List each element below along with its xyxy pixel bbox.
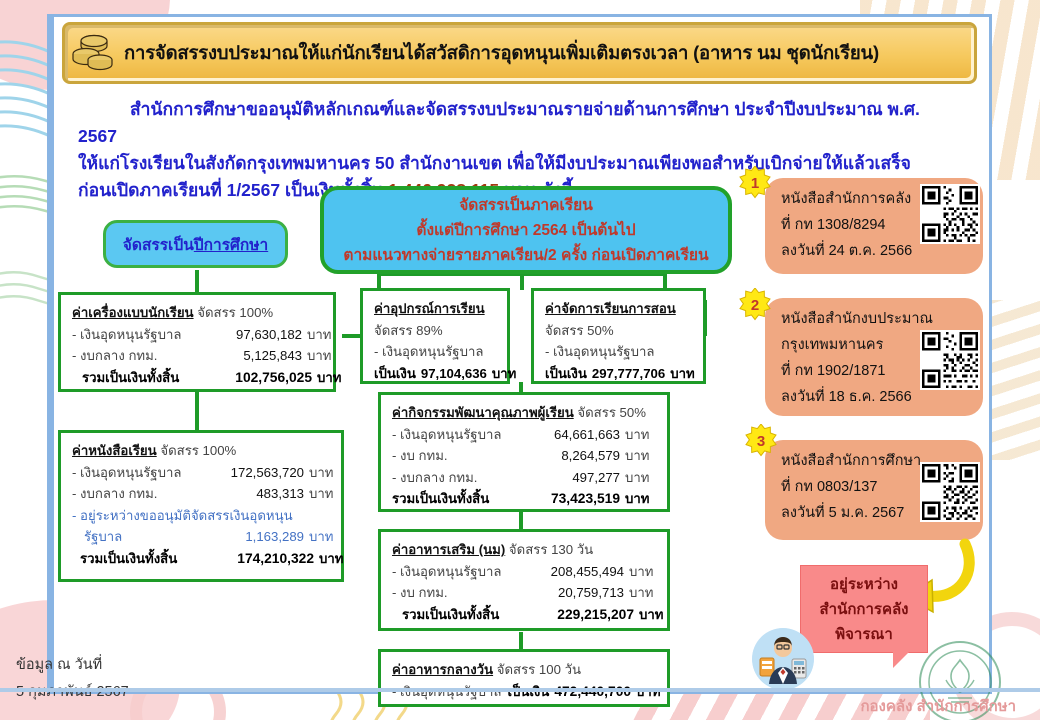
connector-to-milk bbox=[519, 512, 523, 530]
qr-code-icon bbox=[922, 186, 978, 242]
box-uniform-title: ค่าเครื่องแบบนักเรียน bbox=[72, 305, 194, 320]
total-unit: บาท bbox=[312, 367, 341, 389]
total-value: 174,210,322 bbox=[204, 548, 314, 570]
data-as-of-note: ข้อมูล ณ วันที่ 5 กุมภาพันธ์ 2567 bbox=[16, 652, 196, 706]
card-left-accent bbox=[47, 14, 54, 694]
callout-line-3: พิจารณา bbox=[811, 622, 917, 647]
box-milk-header: ค่าอาหารเสริม (นม) จัดสรร 130 วัน bbox=[392, 539, 658, 561]
total-value: 102,756,025 bbox=[206, 367, 312, 389]
row-unit: บาท bbox=[620, 424, 649, 446]
row-label: - เงินอุดหนุนรัฐบาล bbox=[72, 324, 206, 346]
total-value: 297,777,706 bbox=[592, 363, 665, 385]
box-uniform: ค่าเครื่องแบบนักเรียน จัดสรร 100% - เงิน… bbox=[58, 292, 336, 392]
box-activity-row: - งบกลาง กทม. 497,277 บาท bbox=[392, 467, 658, 489]
total-label: เป็นเงิน bbox=[374, 363, 421, 385]
row-label: - เงินอุดหนุนรัฐบาล bbox=[392, 561, 522, 583]
box-milk-row: - งบ กทม. 20,759,713 บาท bbox=[392, 582, 658, 604]
box-books-alloc: จัดสรร 100% bbox=[160, 443, 236, 458]
total-unit: บาท bbox=[634, 604, 663, 626]
box-uniform-alloc: จัดสรร 100% bbox=[197, 305, 273, 320]
term-allocation-box: จัดสรรเป็นภาคเรียน ตั้งแต่ปีการศึกษา 256… bbox=[320, 186, 732, 274]
row-value: 97,630,182 bbox=[206, 324, 302, 346]
box-uniform-row: - เงินอุดหนุนรัฐบาล 97,630,182 บาท bbox=[72, 324, 324, 346]
term-line-1: จัดสรรเป็นภาคเรียน bbox=[459, 193, 593, 218]
connector-supplies-left bbox=[342, 334, 362, 338]
total-unit: บาท bbox=[665, 363, 694, 385]
box-activity-title: ค่ากิจกรรมพัฒนาคุณภาพผู้เรียน bbox=[392, 405, 574, 420]
row-label: - งบกลาง กทม. bbox=[72, 345, 206, 367]
row-value: 483,313 bbox=[200, 483, 304, 505]
total-unit: บาท bbox=[314, 548, 343, 570]
term-line-2: ตั้งแต่ปีการศึกษา 2564 เป็นต้นไป bbox=[416, 218, 635, 243]
box-teaching-alloc: จัดสรร 50% bbox=[545, 320, 694, 342]
row-value: 64,661,663 bbox=[522, 424, 620, 446]
box-books-row: - เงินอุดหนุนรัฐบาล 172,563,720 บาท bbox=[72, 462, 332, 484]
banner-title: การจัดสรรงบประมาณให้แก่นักเรียนได้สวัสดิ… bbox=[124, 39, 879, 68]
row-value: 20,759,713 bbox=[522, 582, 624, 604]
pending-callout: อยู่ระหว่าง สำนักการคลัง พิจารณา bbox=[800, 565, 928, 653]
total-value: 229,215,207 bbox=[530, 604, 634, 626]
box-uniform-header: ค่าเครื่องแบบนักเรียน จัดสรร 100% bbox=[72, 302, 324, 324]
box-milk-title: ค่าอาหารเสริม (นม) bbox=[392, 542, 505, 557]
row-value: 8,264,579 bbox=[522, 445, 620, 467]
year-allocation-prefix: จัดสรรเป็น bbox=[123, 232, 194, 257]
box-books-row: - งบกลาง กทม. 483,313 บาท bbox=[72, 483, 332, 505]
row-label: - งบกลาง กทม. bbox=[72, 483, 200, 505]
title-banner-content: การจัดสรรงบประมาณให้แก่นักเรียนได้สวัสดิ… bbox=[70, 26, 970, 80]
box-supplies: ค่าอุปกรณ์การเรียน จัดสรร 89% - เงินอุดห… bbox=[360, 288, 510, 384]
box-books-total: รวมเป็นเงินทั้งสิ้น 174,210,322 บาท bbox=[72, 548, 332, 570]
box-uniform-row: - งบกลาง กทม. 5,125,843 บาท bbox=[72, 345, 324, 367]
accountant-avatar bbox=[752, 628, 814, 690]
data-as-of-line-2: 5 กุมภาพันธ์ 2567 bbox=[16, 679, 196, 706]
row-unit: บาท bbox=[624, 582, 653, 604]
row-label: - งบ กทม. bbox=[392, 445, 522, 467]
box-lunch: ค่าอาหารกลางวัน จัดสรร 100 วัน - เงินอุด… bbox=[378, 649, 670, 707]
badge-3: 3 bbox=[744, 424, 778, 458]
connector-to-activity bbox=[519, 382, 523, 392]
callout-line-2: สำนักการคลัง bbox=[811, 597, 917, 622]
box-lunch-header: ค่าอาหารกลางวัน จัดสรร 100 วัน bbox=[392, 659, 658, 681]
badge-1-number: 1 bbox=[751, 175, 759, 192]
row-value: 208,455,494 bbox=[522, 561, 624, 583]
row-value: 1,163,289 bbox=[200, 526, 304, 548]
qr-code-icon bbox=[922, 332, 978, 388]
box-activity-alloc: จัดสรร 50% bbox=[577, 405, 646, 420]
row-unit: บาท bbox=[302, 345, 331, 367]
bottom-divider bbox=[0, 688, 1040, 692]
box-supplies-source: - เงินอุดหนุนรัฐบาล bbox=[374, 341, 498, 363]
total-label: เป็นเงิน bbox=[545, 363, 592, 385]
row-unit: บาท bbox=[620, 467, 649, 489]
intro-line-1: สำนักการศึกษาขออนุมัติหลักเกณฑ์และจัดสรร… bbox=[78, 96, 958, 150]
total-unit: บาท bbox=[620, 488, 649, 510]
qr-code-1[interactable] bbox=[920, 184, 980, 244]
connector-year-to-uniform bbox=[195, 270, 199, 292]
box-teaching-source: - เงินอุดหนุนรัฐบาล bbox=[545, 341, 694, 363]
badge-3-number: 3 bbox=[757, 433, 765, 450]
total-label: รวมเป็นเงินทั้งสิ้น bbox=[80, 548, 204, 570]
box-books-header: ค่าหนังสือเรียน จัดสรร 100% bbox=[72, 440, 332, 462]
box-books: ค่าหนังสือเรียน จัดสรร 100% - เงินอุดหนุ… bbox=[58, 430, 344, 582]
total-label: รวมเป็นเงินทั้งสิ้น bbox=[82, 367, 206, 389]
box-activity: ค่ากิจกรรมพัฒนาคุณภาพผู้เรียน จัดสรร 50%… bbox=[378, 392, 670, 512]
year-allocation-underlined: ปีการศึกษา bbox=[194, 232, 268, 257]
badge-2: 2 bbox=[738, 288, 772, 322]
year-allocation-box: จัดสรรเป็นปีการศึกษา bbox=[103, 220, 288, 268]
term-line-3: ตามแนวทางจ่ายรายภาคเรียน/2 ครั้ง ก่อนเปิ… bbox=[343, 243, 708, 268]
box-activity-row: - เงินอุดหนุนรัฐบาล 64,661,663 บาท bbox=[392, 424, 658, 446]
box-teaching-total: เป็นเงิน 297,777,706 บาท bbox=[545, 363, 694, 385]
box-teaching-title: ค่าจัดการเรียนการสอน bbox=[545, 298, 694, 320]
connector-uniform-to-books bbox=[195, 392, 199, 430]
row-unit: บาท bbox=[304, 526, 333, 548]
connector-term-down bbox=[520, 274, 524, 290]
box-supplies-alloc: จัดสรร 89% bbox=[374, 320, 498, 342]
row-unit: บาท bbox=[304, 462, 333, 484]
box-activity-header: ค่ากิจกรรมพัฒนาคุณภาพผู้เรียน จัดสรร 50% bbox=[392, 402, 658, 424]
box-milk: ค่าอาหารเสริม (นม) จัดสรร 130 วัน - เงิน… bbox=[378, 529, 670, 631]
person-calculator-icon bbox=[752, 628, 814, 690]
row-label: - งบกลาง กทม. bbox=[392, 467, 522, 489]
row-unit: บาท bbox=[624, 561, 653, 583]
row-unit: บาท bbox=[302, 324, 331, 346]
box-milk-alloc: จัดสรร 130 วัน bbox=[509, 542, 593, 557]
reference-2-line-1: หนังสือสำนักงบประมาณ bbox=[781, 306, 973, 332]
total-label: รวมเป็นเงินทั้งสิ้น bbox=[402, 604, 530, 626]
coins-icon bbox=[70, 32, 116, 74]
total-unit: บาท bbox=[487, 363, 516, 385]
connector-to-lunch bbox=[519, 632, 523, 650]
row-unit: บาท bbox=[304, 483, 333, 505]
box-books-title: ค่าหนังสือเรียน bbox=[72, 443, 157, 458]
row-label: รัฐบาล bbox=[84, 526, 200, 548]
badge-1: 1 bbox=[738, 166, 772, 200]
callout-line-1: อยู่ระหว่าง bbox=[811, 572, 917, 597]
row-unit: บาท bbox=[620, 445, 649, 467]
box-supplies-total: เป็นเงิน 97,104,636 บาท bbox=[374, 363, 498, 385]
box-milk-row: - เงินอุดหนุนรัฐบาล 208,455,494 บาท bbox=[392, 561, 658, 583]
footer-department: กองคลัง สำนักการศึกษา bbox=[860, 694, 1016, 718]
box-books-pending-line: - อยู่ระหว่างขออนุมัติจัดสรรเงินอุดหนุน bbox=[72, 505, 332, 527]
total-value: 97,104,636 bbox=[421, 363, 487, 385]
box-uniform-total: รวมเป็นเงินทั้งสิ้น 102,756,025 บาท bbox=[72, 367, 324, 389]
data-as-of-line-1: ข้อมูล ณ วันที่ bbox=[16, 652, 196, 679]
box-supplies-title: ค่าอุปกรณ์การเรียน bbox=[374, 298, 498, 320]
infographic-page: การจัดสรรงบประมาณให้แก่นักเรียนได้สวัสดิ… bbox=[0, 0, 1040, 720]
row-value: 497,277 bbox=[522, 467, 620, 489]
badge-2-number: 2 bbox=[751, 297, 759, 314]
qr-code-icon bbox=[922, 464, 978, 520]
intro-line-2: ให้แก่โรงเรียนในสังกัดกรุงเทพมหานคร 50 ส… bbox=[78, 150, 958, 177]
box-teaching: ค่าจัดการเรียนการสอน จัดสรร 50% - เงินอุ… bbox=[531, 288, 706, 384]
box-books-pending-row: รัฐบาล 1,163,289 บาท bbox=[72, 526, 332, 548]
box-activity-row: - งบ กทม. 8,264,579 บาท bbox=[392, 445, 658, 467]
total-value: 73,423,519 bbox=[522, 488, 620, 510]
row-label: - เงินอุดหนุนรัฐบาล bbox=[392, 424, 522, 446]
qr-code-2[interactable] bbox=[920, 330, 980, 390]
qr-code-3[interactable] bbox=[920, 462, 980, 522]
box-milk-total: รวมเป็นเงินทั้งสิ้น 229,215,207 บาท bbox=[392, 604, 658, 626]
box-lunch-title: ค่าอาหารกลางวัน bbox=[392, 662, 493, 677]
box-activity-total: รวมเป็นเงินทั้งสิ้น 73,423,519 บาท bbox=[392, 488, 658, 510]
row-label: - เงินอุดหนุนรัฐบาล bbox=[72, 462, 200, 484]
box-lunch-alloc: จัดสรร 100 วัน bbox=[497, 662, 581, 677]
row-value: 172,563,720 bbox=[200, 462, 304, 484]
row-value: 5,125,843 bbox=[206, 345, 302, 367]
total-label: รวมเป็นเงินทั้งสิ้น bbox=[392, 488, 522, 510]
row-label: - งบ กทม. bbox=[392, 582, 522, 604]
